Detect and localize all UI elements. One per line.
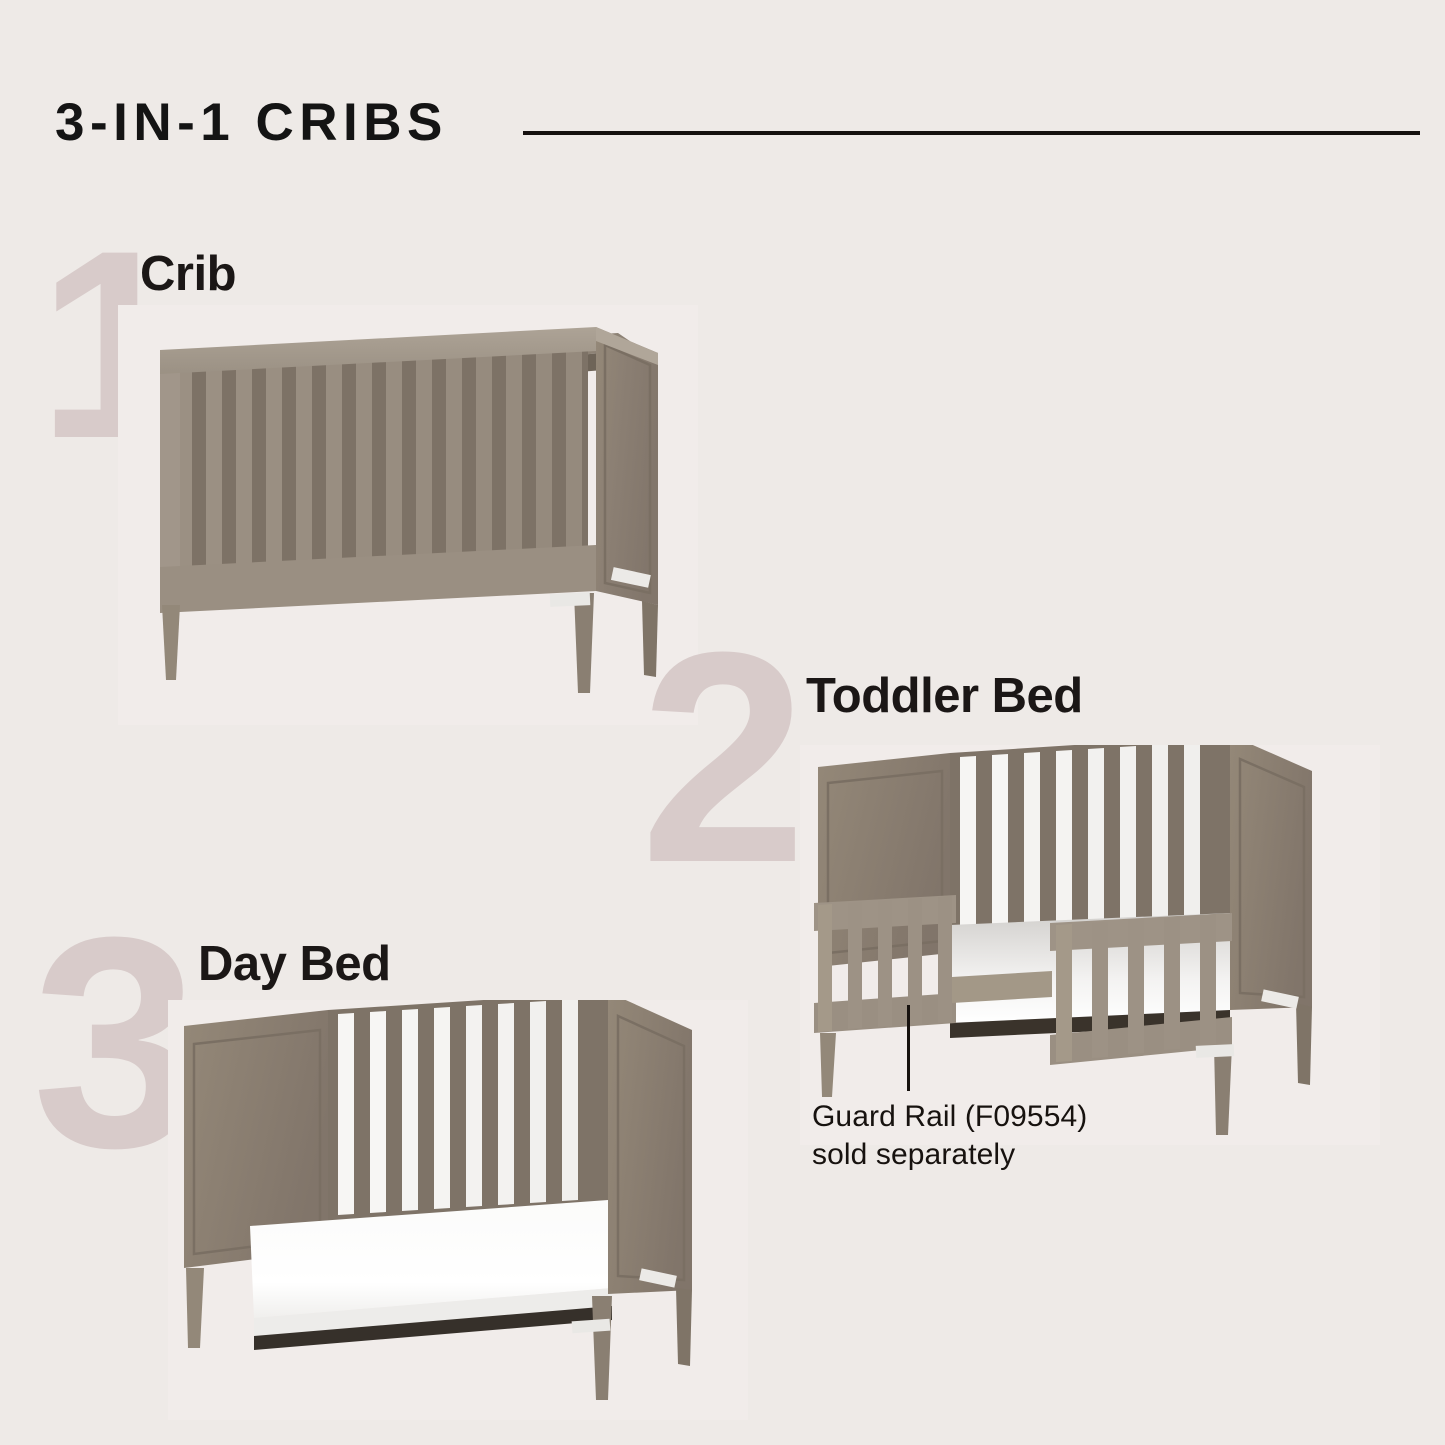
header-divider-rule [523,131,1420,135]
step-label-day-bed: Day Bed [198,940,391,989]
crib-illustration [118,305,698,725]
toddler-leg-front-right [1214,1045,1232,1135]
toddler-bed-photo [800,745,1380,1145]
infographic-page: 3-IN-1 CRIBS 1 Crib [0,0,1445,1445]
guard-rail-leader-line [907,1005,910,1091]
step-label-crib: Crib [140,250,236,299]
day-bed-illustration [168,1000,748,1420]
toddler-label-sticker-front [1196,1044,1235,1058]
step-numeral-2: 2 [640,640,807,874]
day-bed-leg-front-left [186,1268,204,1348]
toddler-bed-illustration [800,745,1380,1145]
crib-leg-front-right [574,593,594,693]
crib-photo [118,305,698,725]
guard-rail-note: Guard Rail (F09554) sold separately [812,1098,1087,1175]
day-bed-leg-back-right [676,1288,692,1366]
toddler-leg-back-right [1296,1003,1312,1085]
step-label-toddler-bed: Toddler Bed [806,672,1083,721]
day-bed-leg-front-right [592,1296,612,1400]
crib-leg-front-left [162,605,180,680]
page-title: 3-IN-1 CRIBS [55,96,448,149]
toddler-leg-front-left [820,1033,836,1097]
day-bed-photo [168,1000,748,1420]
crib-label-sticker-front [550,592,591,607]
